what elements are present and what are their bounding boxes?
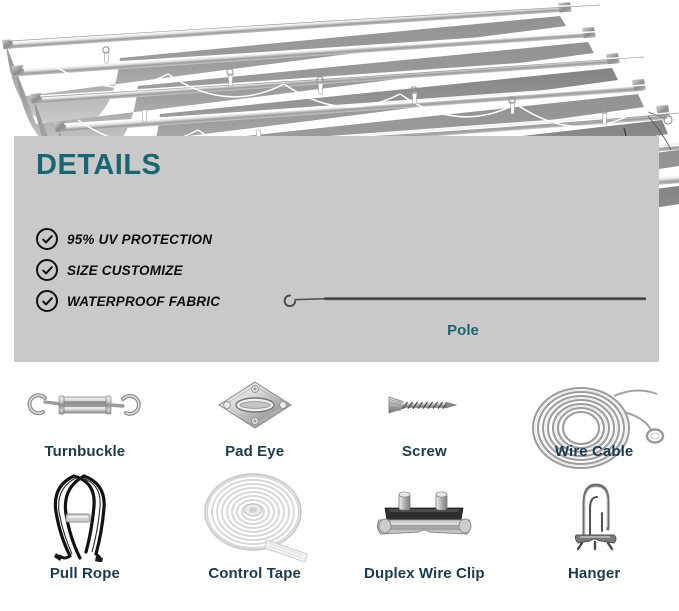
check-circle-icon [36, 290, 58, 312]
product-detail-image: DETAILS 95% UV PROTECTION SIZE CUSTOMIZE… [0, 0, 679, 611]
duplex-wire-clip-icon [369, 472, 479, 560]
details-panel: DETAILS 95% UV PROTECTION SIZE CUSTOMIZE… [14, 136, 659, 362]
feature-item-uv-protection: 95% UV PROTECTION [36, 228, 212, 250]
accessory-label: Screw [402, 443, 447, 460]
feature-label: 95% UV PROTECTION [67, 232, 212, 247]
feature-item-size-customize: SIZE CUSTOMIZE [36, 259, 183, 281]
accessory-label: Pad Eye [225, 443, 284, 460]
pull-rope-icon [30, 472, 140, 560]
accessory-label: Control Tape [208, 565, 301, 582]
pole-label: Pole [278, 322, 648, 339]
check-circle-icon [36, 259, 58, 281]
accessory-item-wire-cable: Wire Cable [509, 372, 679, 460]
accessory-label: Turnbuckle [45, 443, 126, 460]
accessories-row-2: Pull Rope [0, 472, 679, 582]
accessory-label: Duplex Wire Clip [364, 565, 485, 582]
check-circle-icon [36, 228, 58, 250]
accessory-item-screw: Screw [340, 372, 510, 460]
pad-eye-icon [212, 372, 298, 438]
accessory-item-hanger: Hanger [509, 472, 679, 582]
page-title: DETAILS [36, 149, 161, 182]
turnbuckle-icon [23, 372, 147, 438]
accessory-label: Wire Cable [555, 443, 633, 460]
accessories-grid: Turnbuckle [0, 372, 679, 611]
feature-item-waterproof-fabric: WATERPROOF FABRIC [36, 290, 220, 312]
screw-icon [386, 372, 462, 438]
accessory-label: Hanger [568, 565, 620, 582]
control-tape-icon [195, 472, 315, 560]
feature-label: SIZE CUSTOMIZE [67, 263, 183, 278]
accessory-item-pull-rope: Pull Rope [0, 472, 170, 582]
hanger-icon [564, 472, 624, 560]
accessory-item-turnbuckle: Turnbuckle [0, 372, 170, 460]
accessory-item-control-tape: Control Tape [170, 472, 340, 582]
accessory-label: Pull Rope [50, 565, 120, 582]
feature-label: WATERPROOF FABRIC [67, 294, 220, 309]
accessories-row-1: Turnbuckle [0, 372, 679, 460]
pole-illustration: Pole [278, 286, 648, 356]
accessory-item-pad-eye: Pad Eye [170, 372, 340, 460]
accessory-item-duplex-wire-clip: Duplex Wire Clip [340, 472, 510, 582]
